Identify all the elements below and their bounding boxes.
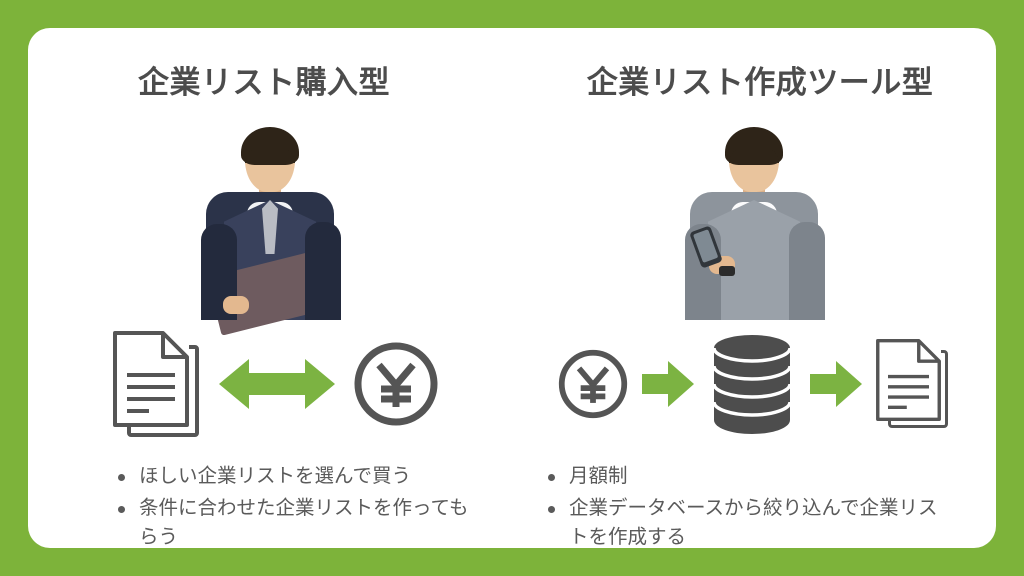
yen-coin-icon bbox=[351, 339, 441, 429]
yen-coin-icon bbox=[556, 347, 630, 421]
database-icon bbox=[706, 332, 798, 436]
bullet-list-tool-type: 月額制 企業データベースから絞り込んで企業リストを作成する bbox=[512, 462, 996, 555]
column-title-tool-type: 企業リスト作成ツール型 bbox=[518, 66, 1002, 100]
document-front-sheet bbox=[113, 331, 189, 427]
wristwatch bbox=[719, 266, 735, 276]
list-item: ほしい企業リストを選んで買う bbox=[114, 462, 478, 492]
column-purchase-type: 企業リスト購入型 bbox=[28, 28, 512, 548]
person-photo-smartphone-man bbox=[679, 116, 829, 320]
person-photo-suit-man bbox=[195, 116, 345, 320]
content-card: 企業リスト購入型 bbox=[28, 28, 996, 548]
list-item: 月額制 bbox=[544, 462, 944, 492]
person-arm-right bbox=[305, 222, 341, 320]
column-tool-type: 企業リスト作成ツール型 bbox=[512, 28, 996, 548]
document-front-sheet bbox=[876, 339, 941, 421]
document-stack-icon bbox=[111, 329, 203, 439]
column-title-purchase-type: 企業リスト購入型 bbox=[22, 66, 506, 100]
icon-row-tool-type bbox=[512, 320, 996, 448]
photo-tool-type bbox=[512, 110, 996, 320]
photo-purchase-type bbox=[28, 110, 512, 320]
arrow-right-icon bbox=[810, 361, 862, 407]
comparison-columns: 企業リスト購入型 bbox=[28, 28, 996, 548]
icon-row-purchase-type bbox=[28, 320, 518, 448]
person-hair bbox=[241, 127, 299, 165]
slide-root: 企業リスト購入型 bbox=[0, 0, 1024, 576]
person-hair bbox=[725, 127, 783, 165]
document-stack-icon bbox=[874, 337, 952, 431]
arrow-right-icon bbox=[642, 361, 694, 407]
person-arm-right bbox=[789, 222, 825, 320]
list-item: 条件に合わせた企業リストを作ってもらう bbox=[114, 494, 478, 553]
bullet-list-purchase-type: ほしい企業リストを選んで買う 条件に合わせた企業リストを作ってもらう bbox=[28, 462, 512, 555]
person-hand bbox=[223, 296, 249, 314]
list-item: 企業データベースから絞り込んで企業リストを作成する bbox=[544, 494, 944, 553]
double-arrow-icon bbox=[219, 353, 335, 415]
